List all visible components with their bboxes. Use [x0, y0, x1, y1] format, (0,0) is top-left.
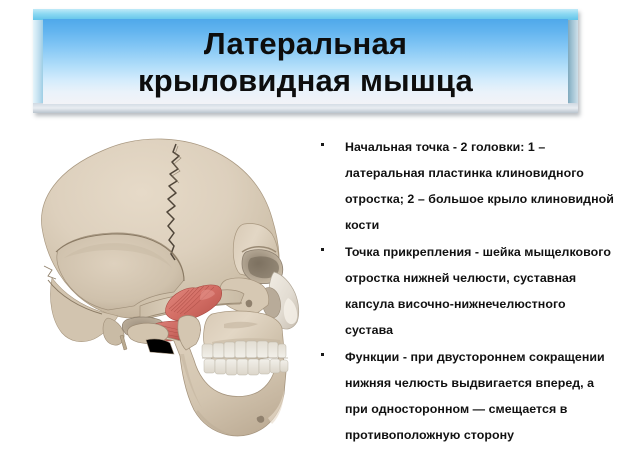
occipital-suture [44, 266, 56, 279]
bullet-text: Функции - при двустороннем сокращении ни… [345, 350, 605, 442]
banner-face: Латеральная крыловидная мышца [43, 19, 568, 104]
bullet-text: Начальная точка - 2 головки: 1 – латерал… [345, 140, 614, 232]
list-item: Начальная точка - 2 головки: 1 – латерал… [316, 134, 616, 238]
mastoid-process [103, 318, 124, 345]
lower-teeth-row [204, 359, 288, 375]
list-item: Функции - при двустороннем сокращении ни… [316, 344, 616, 448]
square-bullet-icon [321, 143, 324, 146]
bullet-text: Точка прикрепления - шейка мыщелкового о… [345, 245, 611, 337]
bullet-list: Начальная точка - 2 головки: 1 – латерал… [316, 134, 616, 449]
slide-title-banner: Латеральная крыловидная мышца [33, 9, 578, 113]
banner-bevel-bottom [33, 103, 578, 113]
square-bullet-icon [321, 353, 324, 356]
square-bullet-icon [321, 248, 324, 251]
banner-bevel-right [568, 9, 578, 113]
skull-illustration [8, 128, 304, 440]
upper-teeth-row [202, 341, 286, 358]
list-item: Точка прикрепления - шейка мыщелкового о… [316, 239, 616, 343]
page-title-line-2: крыловидная мышца [138, 65, 473, 96]
page-title-line-1: Латеральная [204, 28, 407, 59]
